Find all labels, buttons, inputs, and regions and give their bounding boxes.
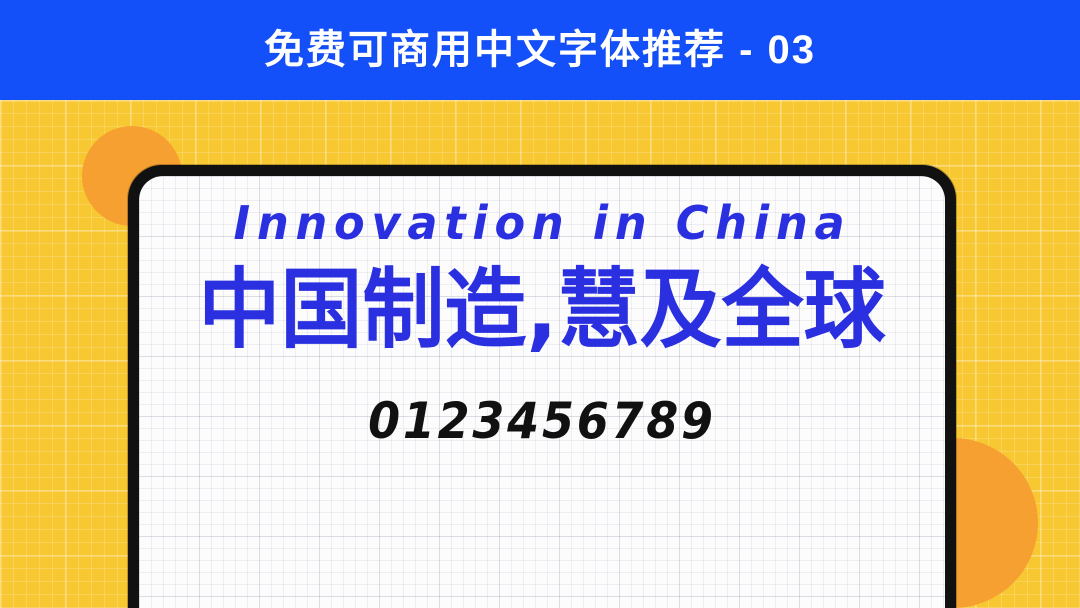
header-banner: 免费可商用中文字体推荐 - 03 — [0, 0, 1080, 100]
device-screen: Innovation in China 中国制造,慧及全球 0123456789 — [139, 176, 945, 608]
specimen-chinese-line: 中国制造,慧及全球 — [198, 265, 885, 356]
specimen-digits-line: 0123456789 — [368, 396, 716, 446]
poster-canvas: 免费可商用中文字体推荐 - 03 Innovation in China 中国制… — [0, 0, 1080, 608]
page-title: 免费可商用中文字体推荐 - 03 — [264, 30, 816, 70]
specimen-latin-line: Innovation in China — [233, 200, 851, 246]
device-frame: Innovation in China 中国制造,慧及全球 0123456789 — [128, 165, 956, 608]
font-specimen: Innovation in China 中国制造,慧及全球 0123456789 — [139, 176, 945, 608]
